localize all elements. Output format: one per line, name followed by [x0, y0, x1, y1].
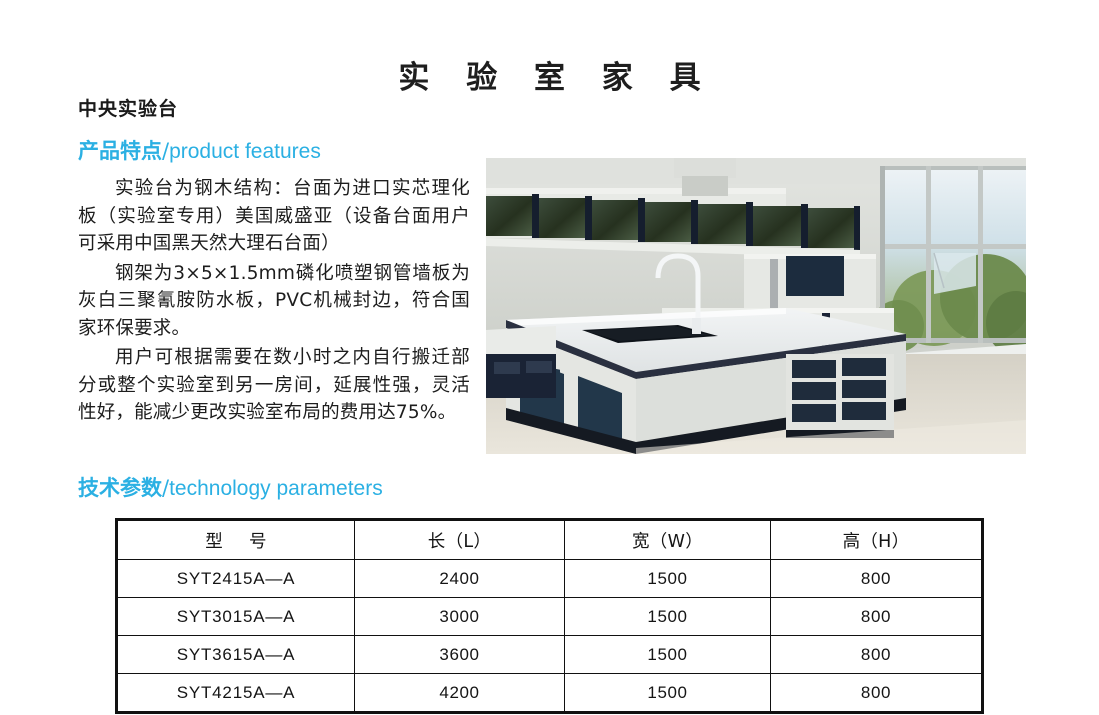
column-header-length: 长（L） — [355, 520, 565, 560]
table-header-row: 型号 长（L） 宽（W） 高（H） — [117, 520, 983, 560]
cell-length: 2400 — [355, 560, 565, 598]
product-features-heading: 产品特点/product features — [78, 135, 470, 165]
cell-model: SYT4215A—A — [117, 674, 355, 713]
column-header-height: 高（H） — [771, 520, 983, 560]
cell-model: SYT3015A—A — [117, 598, 355, 636]
cell-length: 3000 — [355, 598, 565, 636]
column-header-model-right: 号 — [249, 532, 267, 552]
table-row: SYT2415A—A 2400 1500 800 — [117, 560, 983, 598]
table-row: SYT4215A—A 4200 1500 800 — [117, 674, 983, 713]
specification-table: 型号 长（L） 宽（W） 高（H） SYT2415A—A 2400 1500 8… — [115, 518, 984, 714]
laboratory-bench-photo — [486, 158, 1026, 454]
section-subtitle: 中央实验台 — [78, 94, 470, 121]
table-row: SYT3615A—A 3600 1500 800 — [117, 636, 983, 674]
left-content-column: 中央实验台 产品特点/product features 实验台为钢木结构：台面为… — [78, 94, 470, 429]
table-row: SYT3015A—A 3000 1500 800 — [117, 598, 983, 636]
cell-model: SYT3615A—A — [117, 636, 355, 674]
column-header-width: 宽（W） — [565, 520, 771, 560]
cell-length: 3600 — [355, 636, 565, 674]
cell-height: 800 — [771, 598, 983, 636]
cell-height: 800 — [771, 560, 983, 598]
cell-width: 1500 — [565, 636, 771, 674]
cell-length: 4200 — [355, 674, 565, 713]
technology-parameters-heading: 技术参数/technology parameters — [78, 472, 383, 502]
laboratory-bench-photo-illustration — [486, 158, 1026, 454]
technology-parameters-heading-en: technology parameters — [169, 477, 383, 500]
page-title: 实 验 室 家 具 — [0, 52, 1099, 97]
feature-paragraph-3: 用户可根据需要在数小时之内自行搬迁部分或整个实验室到另一房间，延展性强，灵活性好… — [78, 344, 470, 427]
product-features-body: 实验台为钢木结构：台面为进口实芯理化板（实验室专用）美国威盛亚（设备台面用户可采… — [78, 175, 470, 427]
cell-height: 800 — [771, 674, 983, 713]
column-header-model-left: 型 — [205, 532, 223, 552]
product-features-heading-en: product features — [169, 140, 321, 163]
specification-table-wrap: 型号 长（L） 宽（W） 高（H） SYT2415A—A 2400 1500 8… — [115, 518, 981, 714]
technology-parameters-heading-cn: 技术参数 — [78, 476, 162, 500]
cell-model: SYT2415A—A — [117, 560, 355, 598]
cell-width: 1500 — [565, 674, 771, 713]
technology-parameters-heading-wrap: 技术参数/technology parameters — [78, 472, 383, 502]
cell-height: 800 — [771, 636, 983, 674]
feature-paragraph-1: 实验台为钢木结构：台面为进口实芯理化板（实验室专用）美国威盛亚（设备台面用户可采… — [78, 175, 470, 258]
feature-paragraph-2: 钢架为3×5×1.5mm磷化喷塑钢管墙板为灰白三聚氰胺防水板，PVC机械封边，符… — [78, 260, 470, 343]
product-features-heading-cn: 产品特点 — [78, 139, 162, 163]
cell-width: 1500 — [565, 598, 771, 636]
cell-width: 1500 — [565, 560, 771, 598]
column-header-model: 型号 — [117, 520, 355, 560]
